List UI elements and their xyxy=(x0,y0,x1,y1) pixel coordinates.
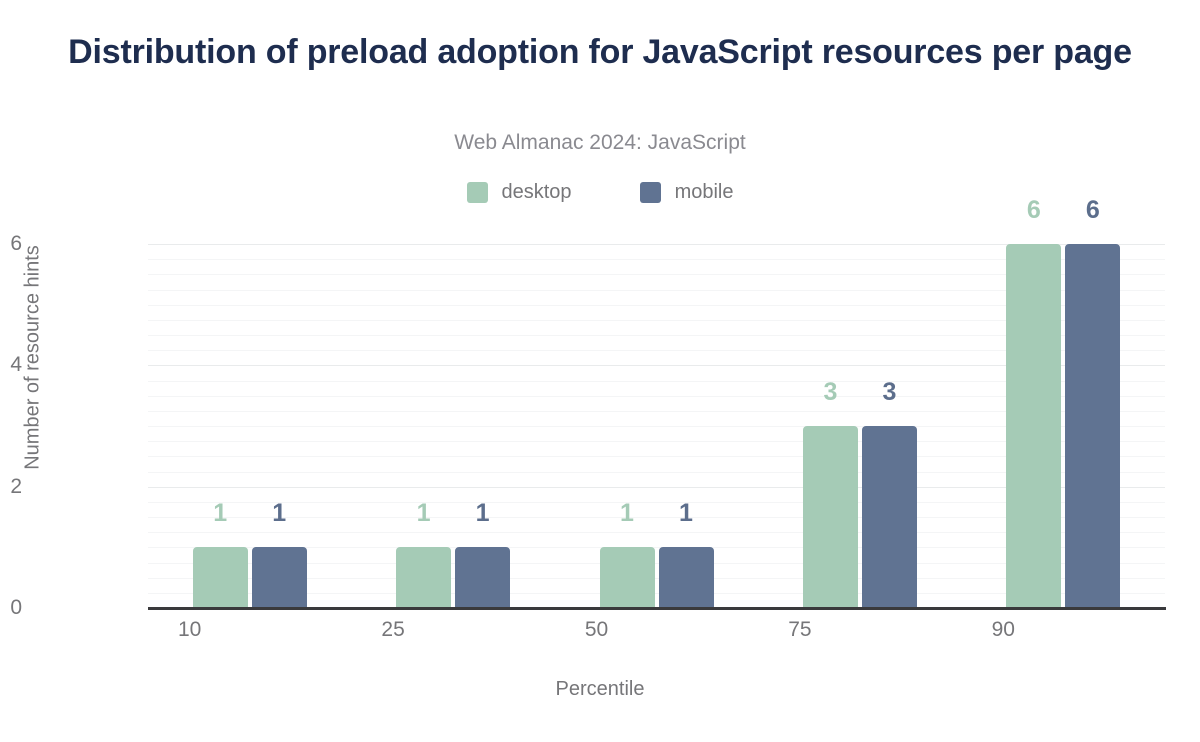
y-tick-label: 2 xyxy=(0,475,22,499)
chart-figure: Distribution of preload adoption for Jav… xyxy=(0,0,1200,742)
value-label-mobile-75: 3 xyxy=(882,378,896,407)
y-axis-title: Number of resource hints xyxy=(22,208,45,508)
x-axis-line xyxy=(148,607,1166,610)
bar-mobile-75[interactable] xyxy=(862,426,917,608)
bar-desktop-25[interactable] xyxy=(396,547,451,608)
bar-desktop-50[interactable] xyxy=(600,547,655,608)
value-label-desktop-25: 1 xyxy=(417,499,431,528)
y-tick-label: 4 xyxy=(0,353,22,377)
legend-item-desktop[interactable]: desktop xyxy=(467,181,572,204)
value-label-desktop-50: 1 xyxy=(620,499,634,528)
legend-item-mobile[interactable]: mobile xyxy=(640,181,734,204)
chart-legend: desktop mobile xyxy=(0,181,1200,204)
value-label-mobile-90: 6 xyxy=(1086,196,1100,225)
bar-desktop-10[interactable] xyxy=(193,547,248,608)
legend-label-mobile: mobile xyxy=(675,181,734,204)
value-label-mobile-25: 1 xyxy=(476,499,490,528)
x-tick-label-50: 50 xyxy=(537,618,657,642)
bar-mobile-90[interactable] xyxy=(1065,244,1120,608)
x-tick-label-75: 75 xyxy=(740,618,860,642)
value-label-desktop-75: 3 xyxy=(823,378,837,407)
chart-subtitle: Web Almanac 2024: JavaScript xyxy=(60,131,1140,155)
chart-title: Distribution of preload adoption for Jav… xyxy=(60,30,1140,74)
x-tick-label-90: 90 xyxy=(943,618,1063,642)
value-label-desktop-10: 1 xyxy=(213,499,227,528)
bar-desktop-90[interactable] xyxy=(1006,244,1061,608)
value-label-mobile-50: 1 xyxy=(679,499,693,528)
bar-mobile-10[interactable] xyxy=(252,547,307,608)
bar-desktop-75[interactable] xyxy=(803,426,858,608)
value-label-desktop-90: 6 xyxy=(1027,196,1041,225)
legend-swatch-mobile xyxy=(640,182,661,203)
x-tick-label-25: 25 xyxy=(333,618,453,642)
value-label-mobile-10: 1 xyxy=(272,499,286,528)
plot-bars xyxy=(148,244,1165,608)
legend-swatch-desktop xyxy=(467,182,488,203)
bar-mobile-25[interactable] xyxy=(455,547,510,608)
y-tick-label: 6 xyxy=(0,232,22,256)
legend-label-desktop: desktop xyxy=(502,181,572,204)
bar-mobile-50[interactable] xyxy=(659,547,714,608)
x-axis-title: Percentile xyxy=(0,678,1200,701)
x-tick-label-10: 10 xyxy=(130,618,250,642)
y-tick-label: 0 xyxy=(0,596,22,620)
